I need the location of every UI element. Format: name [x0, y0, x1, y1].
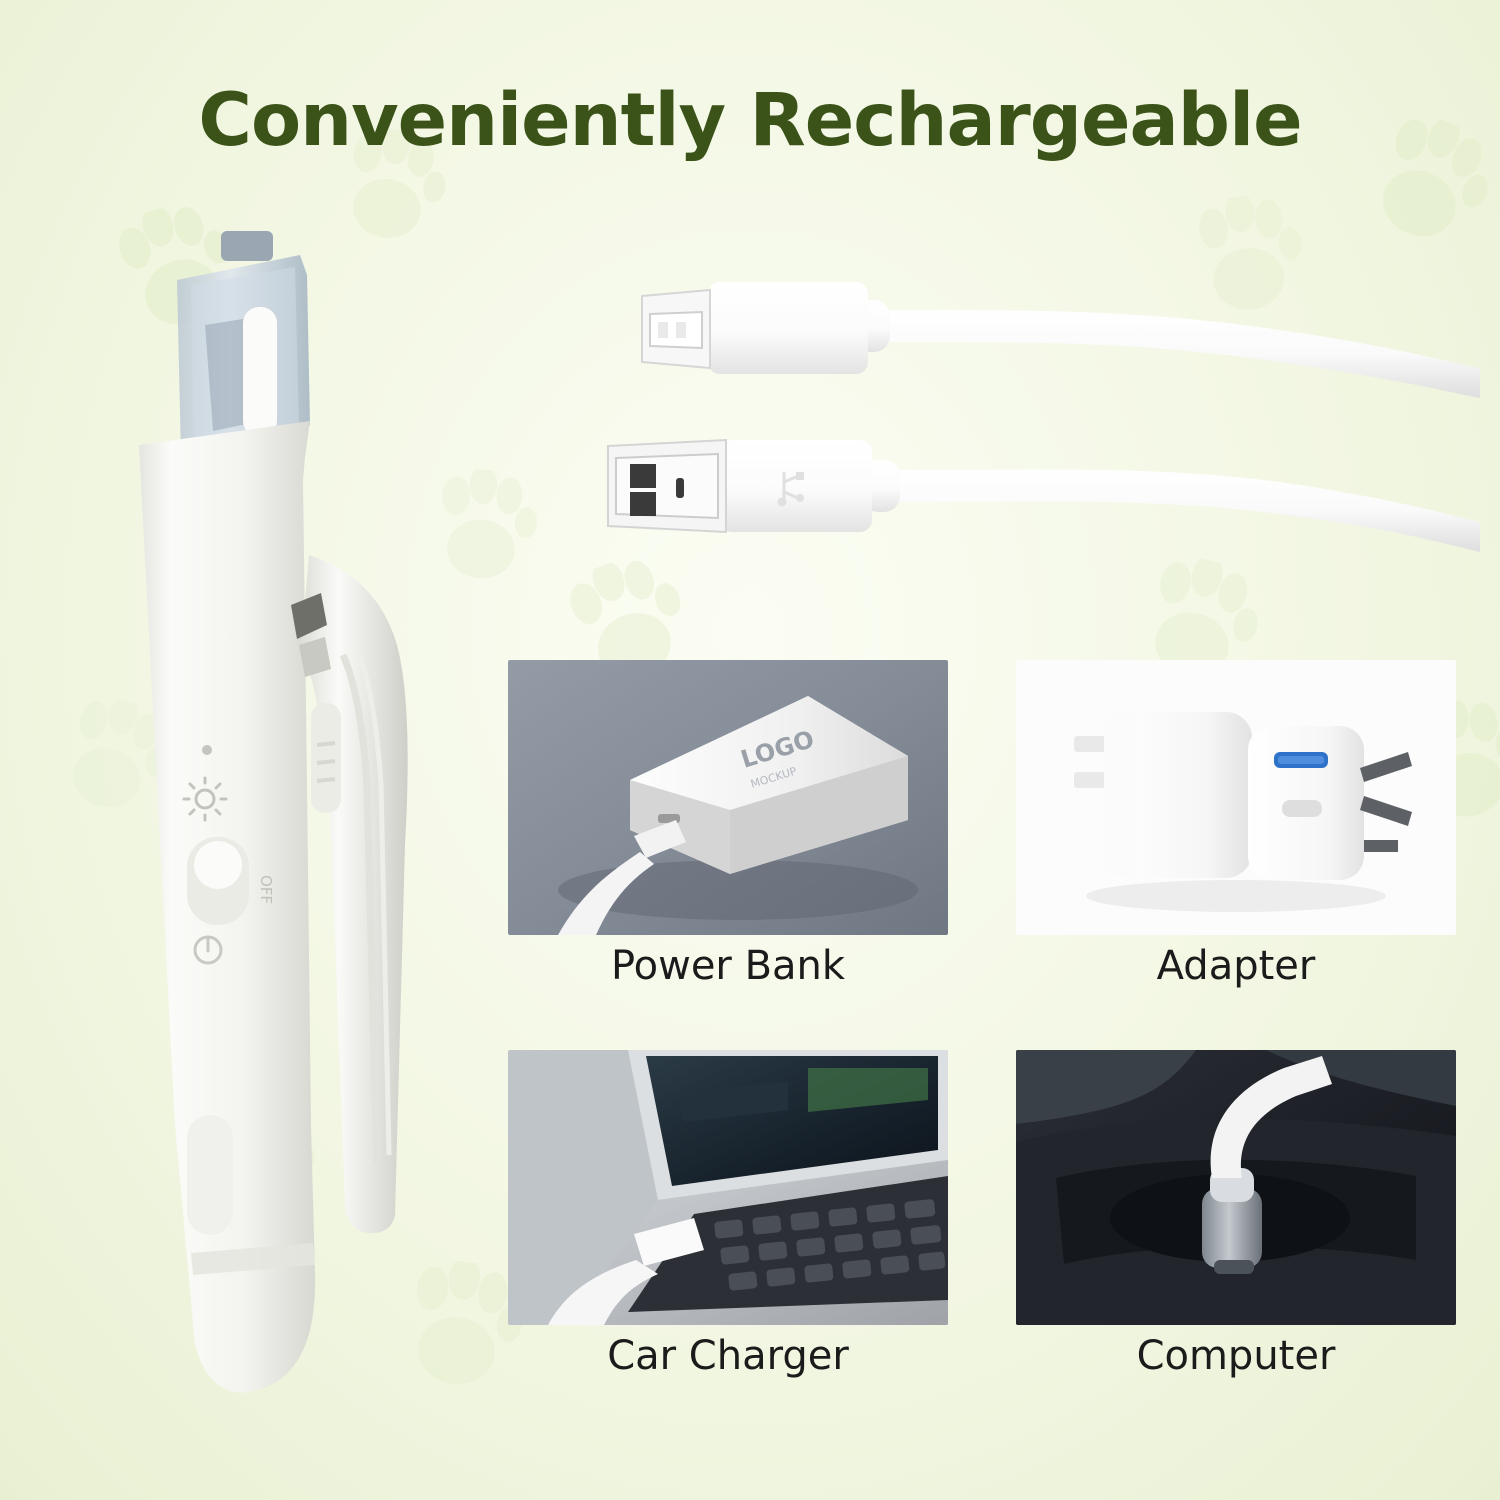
- usb-a-to-usb-cable: [608, 440, 1480, 552]
- micro-usb-cable: [642, 282, 1480, 398]
- computer-photo: [1016, 1050, 1456, 1325]
- caption-adapter: Adapter: [1016, 943, 1456, 989]
- caption-car-charger: Car Charger: [508, 1333, 948, 1379]
- adapter-photo: [1016, 660, 1456, 935]
- charging-option-computer: Computer: [1016, 1050, 1456, 1390]
- switch-off-label: OFF: [257, 875, 275, 904]
- caption-computer: Computer: [1016, 1333, 1456, 1379]
- caption-power-bank: Power Bank: [508, 943, 948, 989]
- charging-option-adapter: Adapter: [1016, 660, 1456, 1000]
- product-infographic: Conveniently Rechargeable: [0, 0, 1500, 1500]
- page-title: Conveniently Rechargeable: [0, 78, 1500, 163]
- car-charger-photo: [508, 1050, 948, 1325]
- product-image-nail-clipper: OFF: [95, 225, 455, 1425]
- charging-options-grid: LOGO MOCKUP Power Bank: [508, 660, 1476, 1440]
- charging-cables-image: [580, 270, 1480, 600]
- charging-option-car-charger: Car Charger: [508, 1050, 948, 1390]
- charging-option-power-bank: LOGO MOCKUP Power Bank: [508, 660, 948, 1000]
- power-bank-photo: LOGO MOCKUP: [508, 660, 948, 935]
